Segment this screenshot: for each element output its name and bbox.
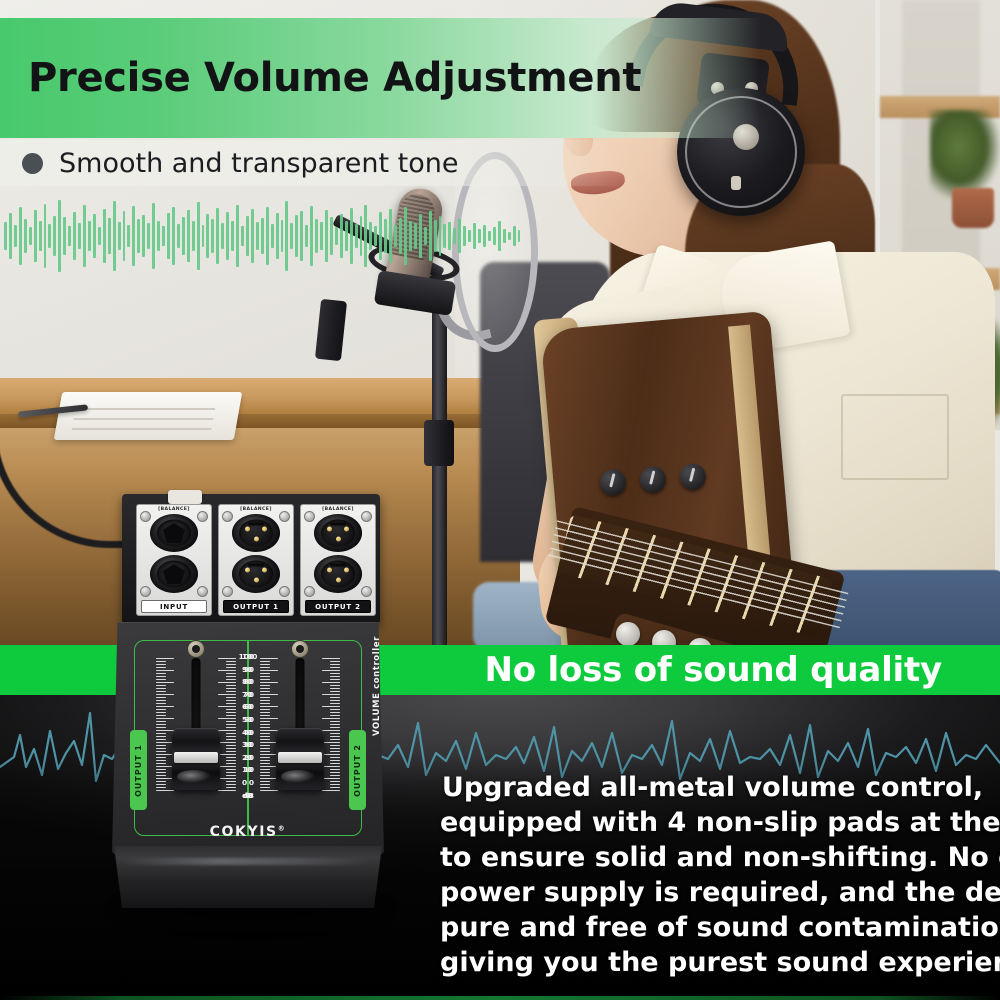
jack-inner [239, 520, 273, 547]
feature-bullet-row: Smooth and transparent tone [0, 140, 620, 186]
jack-inner [321, 561, 355, 588]
spectrum-bar [83, 205, 86, 267]
registered-trademark-icon: ® [278, 824, 287, 832]
spectrum-bar [226, 212, 229, 260]
panel-screw [304, 511, 315, 522]
fader-tick [156, 775, 166, 776]
spectrum-bar [29, 227, 32, 245]
fader-tick [156, 724, 166, 725]
fader-tick [156, 733, 166, 734]
spectrum-bar [355, 224, 358, 248]
spectrum-bar [162, 226, 165, 246]
fader-tick [156, 670, 174, 671]
fader-tick [330, 721, 340, 722]
xlr-keyway [330, 564, 346, 567]
combo-jack-input-2[interactable] [150, 555, 198, 593]
spectrum-bar [404, 207, 407, 265]
spectrum-bar [285, 201, 288, 271]
fader-tick [330, 673, 340, 674]
spectrum-bar [300, 211, 303, 261]
fader-tick [156, 679, 166, 680]
fader-scale-label: 90 [232, 665, 254, 674]
fader-tick [260, 775, 270, 776]
guitar-knob [639, 466, 667, 494]
panel-screw [140, 511, 151, 522]
sound-quality-title: No loss of sound quality [484, 650, 942, 690]
spectrum-bar [19, 207, 22, 265]
panel-screw [197, 511, 208, 522]
xlr-pin [262, 527, 267, 532]
description-line: Upgraded all-metal volume control, [440, 770, 985, 805]
channel-tab-label: OUTPUT 1 [134, 744, 143, 797]
jack-label-input: INPUT [141, 600, 207, 613]
fader-tick [260, 790, 278, 791]
spectrum-bar [439, 216, 442, 256]
fader-tick [156, 721, 166, 722]
volume-controller-device: [BALANCE] INPUT [BAL [112, 494, 384, 924]
brand-name: COKYIS [210, 824, 278, 840]
spectrum-bar [123, 211, 126, 261]
fader-output-2[interactable]: 1009080706050403020100dB [254, 646, 346, 826]
fader-scale-label: 10 [232, 765, 254, 774]
fader-tick [330, 784, 340, 785]
fader-tick [156, 697, 166, 698]
spectrum-bar [409, 221, 412, 251]
fader-tick [260, 661, 270, 662]
panel-screw [222, 586, 233, 597]
spectrum-bar [369, 222, 372, 250]
fader-tick [330, 787, 340, 788]
fader-tick [330, 781, 340, 782]
spectrum-bar [251, 209, 254, 263]
spectrum-bar [389, 209, 392, 263]
spectrum-bar [503, 229, 506, 243]
spectrum-bar [58, 200, 61, 272]
fader-tick [322, 670, 340, 671]
fader-tick [322, 718, 340, 719]
fader-tick [156, 715, 166, 716]
spectrum-bar [453, 228, 456, 244]
spectrum-bar [63, 217, 66, 255]
fader-tick [260, 784, 270, 785]
fader-tick [260, 685, 270, 686]
xlr-jack-output-2b[interactable] [314, 555, 362, 593]
fader-tick [330, 739, 340, 740]
fader-tick [260, 706, 278, 707]
fader-tick [330, 751, 340, 752]
spectrum-bar [68, 226, 71, 246]
spectrum-bar [241, 226, 244, 246]
xlr-pin [262, 568, 267, 573]
brand-logo: COKYIS® [112, 824, 384, 840]
fader-tick [322, 790, 340, 791]
spectrum-bar [236, 205, 239, 267]
fader-tick [330, 736, 340, 737]
fader-tick [156, 673, 166, 674]
spectrum-bar [152, 203, 155, 269]
spectrum-bar [172, 207, 175, 265]
spectrum-bar [266, 207, 269, 265]
spectrum-bar [399, 218, 402, 254]
fader-knob-indicator [174, 752, 218, 763]
spectrum-bar [4, 222, 7, 250]
jack-inner [157, 561, 191, 588]
fader-mount-screw [291, 640, 309, 658]
spectrum-bar [53, 216, 56, 256]
fader-tick [330, 748, 340, 749]
spectrum-bar [290, 223, 293, 249]
spectrum-bar [483, 225, 486, 247]
spectrum-bar [330, 217, 333, 255]
spectrum-bar [9, 213, 12, 259]
channel-tab-label: OUTPUT 2 [353, 744, 362, 797]
fader-tick [260, 748, 270, 749]
headline-banner: Precise Volume Adjustment [0, 18, 760, 138]
fader-tick [260, 751, 270, 752]
fader-knob-output-2[interactable] [276, 728, 324, 790]
fader-tick [260, 730, 278, 731]
guitar-tuning-peg [616, 622, 640, 646]
xlr-jack-output-2a[interactable] [314, 514, 362, 552]
xlr-keyway [248, 523, 264, 526]
fader-tick [322, 766, 340, 767]
fader-tick [260, 724, 270, 725]
fader-tick [260, 739, 270, 740]
fader-tick [260, 787, 270, 788]
fader-tick [156, 667, 166, 668]
fader-tick [156, 751, 166, 752]
fader-tick [260, 670, 278, 671]
spectrum-bar [360, 216, 363, 256]
spectrum-bar [394, 225, 397, 247]
fader-tick [330, 700, 340, 701]
fader-tick [330, 724, 340, 725]
fader-tick [322, 658, 340, 659]
fader-output-1[interactable]: 1009080706050403020100dB [150, 646, 242, 826]
fader-tick [260, 721, 270, 722]
channel-tab-output-1: OUTPUT 1 [130, 730, 147, 810]
spectrum-bar [98, 227, 101, 245]
fader-tick [156, 748, 166, 749]
fader-tick [330, 745, 340, 746]
fader-scale-label: 30 [232, 740, 254, 749]
fader-tick [156, 727, 166, 728]
spectrum-bar [256, 222, 259, 250]
spectrum-bar [48, 224, 51, 248]
fader-tick [260, 712, 270, 713]
fader-tick [260, 694, 278, 695]
fader-tick [330, 769, 340, 770]
fader-tick [156, 691, 166, 692]
fader-tick [330, 664, 340, 665]
spectrum-bar [167, 213, 170, 259]
fader-tick [156, 709, 166, 710]
spectrum-bar [137, 219, 140, 253]
fader-tick [330, 676, 340, 677]
mic-stand-clamp [424, 420, 454, 466]
fader-tick [156, 712, 166, 713]
fader-knob-indicator [278, 752, 322, 763]
xlr-pin [336, 537, 341, 542]
fader-tick [156, 757, 166, 758]
fader-tick [260, 691, 270, 692]
fader-tick [322, 682, 340, 683]
fader-tick [330, 688, 340, 689]
fader-tick [260, 676, 270, 677]
fader-tick [156, 694, 174, 695]
device-rear-panel: [BALANCE] INPUT [BAL [122, 494, 380, 624]
fader-scale-label: 100 [232, 652, 254, 661]
spectrum-bar [473, 223, 476, 249]
fader-tick [330, 775, 340, 776]
fader-tick [260, 682, 278, 683]
fader-tick [156, 700, 166, 701]
spectrum-bar [132, 206, 135, 266]
spectrum-bar [379, 212, 382, 260]
spectrum-bar [271, 224, 274, 248]
fader-tick [260, 718, 278, 719]
fader-scale-label: 40 [232, 728, 254, 737]
combo-jack-input-1[interactable] [150, 514, 198, 552]
fader-tick [260, 736, 270, 737]
spectrum-bar [142, 215, 145, 257]
spectrum-bar [192, 221, 195, 251]
spectrum-bar [34, 210, 37, 262]
spectrum-bar [315, 219, 318, 253]
description-line: power supply is required, and the design… [440, 875, 985, 910]
fader-scale-label: dB [232, 791, 254, 800]
xlr-jack-output-1a[interactable] [232, 514, 280, 552]
xlr-pin [254, 537, 259, 542]
fader-tick [156, 703, 166, 704]
fader-tick [156, 787, 166, 788]
spectrum-bar [108, 218, 111, 254]
jack-inner [157, 520, 191, 547]
fader-tick [260, 757, 270, 758]
fader-tick [330, 757, 340, 758]
fader-tick [156, 688, 166, 689]
jack-inner [321, 520, 355, 547]
xlr-jack-output-1b[interactable] [232, 555, 280, 593]
device-chassis-highlight [120, 858, 372, 865]
fader-tick [322, 694, 340, 695]
fader-tick [156, 676, 166, 677]
spectrum-bar [325, 210, 328, 262]
fader-tick [322, 754, 340, 755]
panel-screw [361, 511, 372, 522]
fader-tick [156, 730, 174, 731]
spectrum-bar [103, 209, 106, 263]
fader-knob-highlight [281, 770, 315, 783]
mic-stand-pole [432, 300, 447, 648]
xlr-pin [245, 527, 250, 532]
jack-label-output-1: OUTPUT 1 [223, 600, 289, 613]
panel-tab [168, 490, 202, 504]
spectrum-bar [340, 214, 343, 258]
fader-scale-output-2: 1009080706050403020100dB [232, 652, 254, 804]
fader-tick-marks-right [322, 658, 340, 792]
spectrum-bar [320, 222, 323, 250]
spectrum-bar [493, 227, 496, 245]
spectrum-bar [448, 222, 451, 250]
spectrum-bar [246, 216, 249, 256]
spectrum-bar [231, 221, 234, 251]
fader-tick [260, 664, 270, 665]
xlr-keyway [330, 523, 346, 526]
fader-tick [330, 712, 340, 713]
fader-tick [322, 778, 340, 779]
fader-tick [322, 742, 340, 743]
spectrum-bar [335, 227, 338, 245]
spectrum-bar [513, 226, 516, 246]
xlr-pin [344, 527, 349, 532]
jack-label-output-2: OUTPUT 2 [305, 600, 371, 613]
spectrum-bar [414, 223, 417, 249]
panel-screw [222, 511, 233, 522]
bullet-dot-icon [22, 153, 43, 174]
fader-tick [260, 673, 270, 674]
spectrum-bar [73, 212, 76, 260]
device-front-panel: OUTPUT 1 OUTPUT 2 VOLUME controller 1009… [112, 622, 384, 854]
spectrum-bar [295, 215, 298, 257]
xlr-pin [327, 568, 332, 573]
combo-connector-slot [163, 564, 185, 584]
fader-scale-label: 20 [232, 753, 254, 762]
xlr-pin [254, 578, 259, 583]
fader-tick [330, 727, 340, 728]
fader-scale-label: 60 [232, 702, 254, 711]
fader-tick [260, 697, 270, 698]
fader-tick [330, 661, 340, 662]
channel-tab-output-2: OUTPUT 2 [349, 730, 366, 810]
fader-tick [156, 769, 166, 770]
fader-scale-label: 0 [232, 778, 254, 787]
audio-spectrum-graphic [0, 186, 520, 286]
fader-tick [330, 703, 340, 704]
xlr-pin [327, 527, 332, 532]
panel-screw [279, 511, 290, 522]
fader-tick [260, 781, 270, 782]
fader-knob-output-1[interactable] [172, 728, 220, 790]
fader-tick [260, 658, 278, 659]
fader-tick [330, 715, 340, 716]
fader-tick [322, 730, 340, 731]
guitar-knob [679, 463, 707, 491]
panel-screw [197, 586, 208, 597]
fader-tick [156, 706, 174, 707]
fader-tick [260, 727, 270, 728]
spectrum-bar [498, 221, 501, 251]
spectrum-bar [118, 222, 121, 250]
fader-tick [330, 763, 340, 764]
spectrum-bar [350, 208, 353, 264]
fader-tick [156, 736, 166, 737]
spectrum-bar [113, 201, 116, 271]
fader-scale-label: 70 [232, 690, 254, 699]
headphones-jack-port [731, 176, 741, 190]
spectrum-bar [478, 229, 481, 243]
jack-inner [239, 561, 273, 588]
fader-tick [330, 709, 340, 710]
fader-tick [156, 682, 174, 683]
fader-tick [260, 763, 270, 764]
spectrum-bar [78, 223, 81, 249]
description-line: pure and free of sound contamination, [440, 910, 985, 945]
spectrum-bar [419, 214, 422, 258]
fader-tick [156, 685, 166, 686]
spectrum-bar [93, 214, 96, 258]
spectrum-bar [39, 221, 42, 251]
fader-tick [156, 739, 166, 740]
fader-tick [260, 700, 270, 701]
fader-mount-screw [187, 640, 205, 658]
spectrum-bar [364, 205, 367, 267]
fader-tick [260, 703, 270, 704]
fader-tick [260, 733, 270, 734]
xlr-keyway [248, 564, 264, 567]
fader-tick [156, 763, 166, 764]
spectrum-bar [458, 219, 461, 253]
fader-tick [260, 769, 270, 770]
spectrum-bar [44, 204, 47, 268]
fader-tick [330, 760, 340, 761]
spectrum-bar [14, 225, 17, 247]
shirt-pocket [841, 394, 949, 480]
spectrum-bar [211, 219, 214, 253]
description-line: to ensure solid and non-shifting. No ext… [440, 840, 985, 875]
fader-tick [322, 706, 340, 707]
spectrum-bar [157, 221, 160, 251]
volume-controller-side-text: VOLUME controller [372, 640, 382, 736]
xlr-pin [245, 568, 250, 573]
fader-tick [330, 772, 340, 773]
spectrum-bar [424, 227, 427, 245]
fader-tick [156, 760, 166, 761]
spectrum-bar [187, 210, 190, 262]
fader-tick [330, 733, 340, 734]
fader-tick [330, 697, 340, 698]
fader-tick [260, 679, 270, 680]
fader-knob-highlight [177, 770, 211, 783]
spectrum-bar [88, 221, 91, 251]
description-line: equipped with 4 non-slip pads at the bot… [440, 805, 985, 840]
spectrum-bar [182, 217, 185, 255]
jack-group-output-1: [BALANCE] [218, 504, 294, 616]
fader-tick [156, 718, 174, 719]
device-chassis-base [114, 846, 382, 908]
spectrum-bar [216, 208, 219, 264]
spectrum-bar [206, 214, 209, 258]
spectrum-bar [221, 223, 224, 249]
spectrum-bar [518, 230, 521, 242]
panel-screw [279, 586, 290, 597]
fader-tick [156, 781, 166, 782]
xlr-pin [344, 568, 349, 573]
fader-tick [156, 772, 166, 773]
spectrum-bar [508, 232, 511, 240]
jack-group-output-2: [BALANCE] [300, 504, 376, 616]
spectrum-bar [310, 206, 313, 266]
panel-screw [304, 586, 315, 597]
panel-screw [140, 586, 151, 597]
fader-tick [260, 760, 270, 761]
fader-tick [156, 784, 166, 785]
spectrum-bar [374, 226, 377, 246]
panel-screw [361, 586, 372, 597]
spectrum-bar [261, 218, 264, 254]
fader-tick [330, 667, 340, 668]
fader-tick [156, 661, 166, 662]
